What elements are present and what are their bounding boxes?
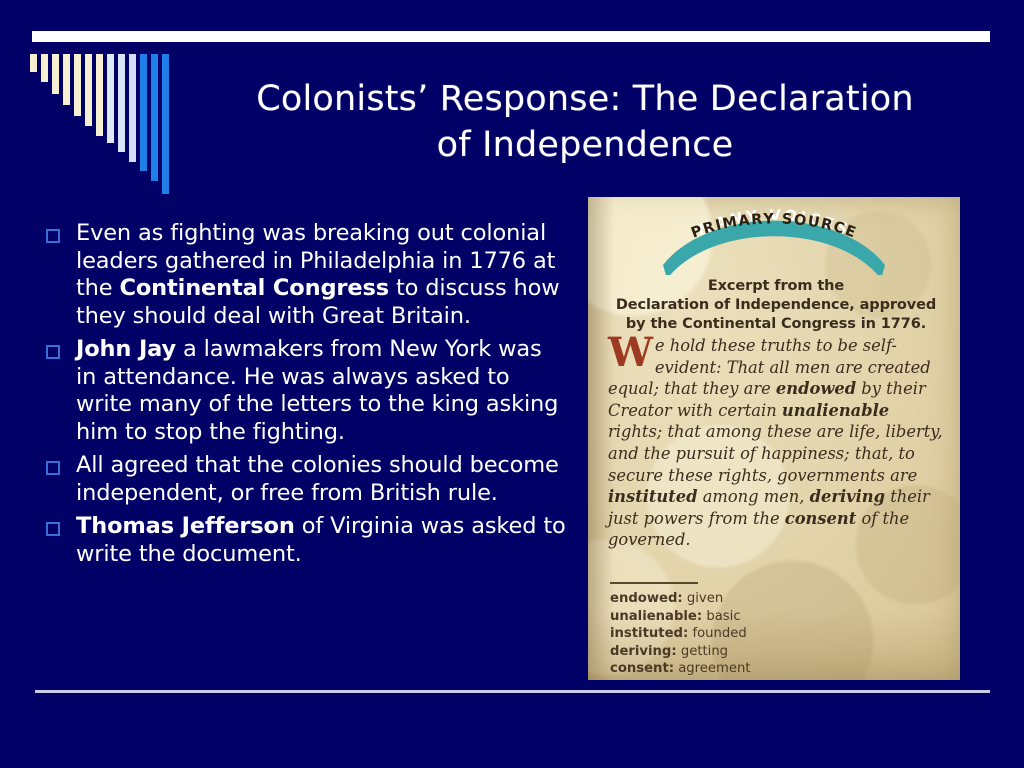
glossary-term: unalienable: [610,609,702,624]
decorative-bar [140,54,147,171]
glossary-entry: unalienable: basic [610,608,946,626]
list-item: Thomas Jefferson of Virginia was asked t… [46,513,566,568]
list-item-text: All agreed that the colonies should beco… [76,452,566,507]
glossary-entry: instituted: founded [610,625,946,643]
glossary-term: consent: [610,661,674,676]
decorative-bar [30,54,37,72]
bullet-square-icon [46,345,60,359]
primary-source-image: MANY VOICES PRIMARY SOURCE Excerpt from … [588,197,960,680]
slide-canvas: Colonists’ Response: The Declaration of … [0,0,1024,768]
glossary-term: instituted: [610,626,688,641]
scan-heading-line: Declaration of Independence, approved [602,296,950,315]
page-title-line-2: of Independence [190,122,980,168]
decorative-bar [107,54,114,143]
glossary-definition: agreement [674,661,751,676]
scan-heading-line: Excerpt from the [602,277,950,296]
decorative-bar [118,54,125,152]
bullet-square-icon [46,229,60,243]
bottom-divider-rule [35,690,990,693]
decorative-bar [74,54,81,116]
glossary-definition: founded [688,626,746,641]
page-title-line-1: Colonists’ Response: The Declaration [190,76,980,122]
page-title: Colonists’ Response: The Declaration of … [190,76,980,168]
list-item: All agreed that the colonies should beco… [46,452,566,507]
glossary-list: endowed: givenunalienable: basicinstitut… [610,590,946,678]
list-item: John Jay a lawmakers from New York was i… [46,336,566,446]
glossary-entry: endowed: given [610,590,946,608]
glossary-term: endowed: [610,591,683,606]
bullet-square-icon [46,461,60,475]
glossary-definition: given [683,591,724,606]
list-item-text: John Jay a lawmakers from New York was i… [76,336,566,446]
glossary-definition: basic [702,609,740,624]
many-voices-banner: MANY VOICES PRIMARY SOURCE [649,209,899,275]
decorative-bar [63,54,70,105]
glossary-definition: getting [677,644,728,659]
decorative-bar [41,54,48,82]
list-item: Even as fighting was breaking out coloni… [46,220,566,330]
glossary-entry: consent: agreement [610,660,946,678]
decorative-bar [129,54,136,162]
decorative-bar [85,54,92,126]
excerpt-drop-cap: W [608,336,655,369]
decorative-descending-bars [30,54,190,204]
glossary-divider [610,582,698,584]
decorative-bar [162,54,169,194]
decorative-bar [52,54,59,94]
scan-heading: Excerpt from theDeclaration of Independe… [602,277,950,334]
list-item-text: Thomas Jefferson of Virginia was asked t… [76,513,566,568]
bullet-square-icon [46,522,60,536]
banner-arc-svg: MANY VOICES PRIMARY SOURCE [649,209,899,275]
decorative-bar [151,54,158,181]
bullet-list: Even as fighting was breaking out coloni… [46,220,566,574]
scan-heading-line: by the Continental Congress in 1776. [602,315,950,334]
decorative-bar [96,54,103,136]
top-divider-rule [32,31,990,42]
glossary-term: deriving: [610,644,677,659]
scan-excerpt-text: We hold these truths to be self-evident:… [608,335,946,551]
glossary-entry: deriving: getting [610,643,946,661]
list-item-text: Even as fighting was breaking out coloni… [76,220,566,330]
